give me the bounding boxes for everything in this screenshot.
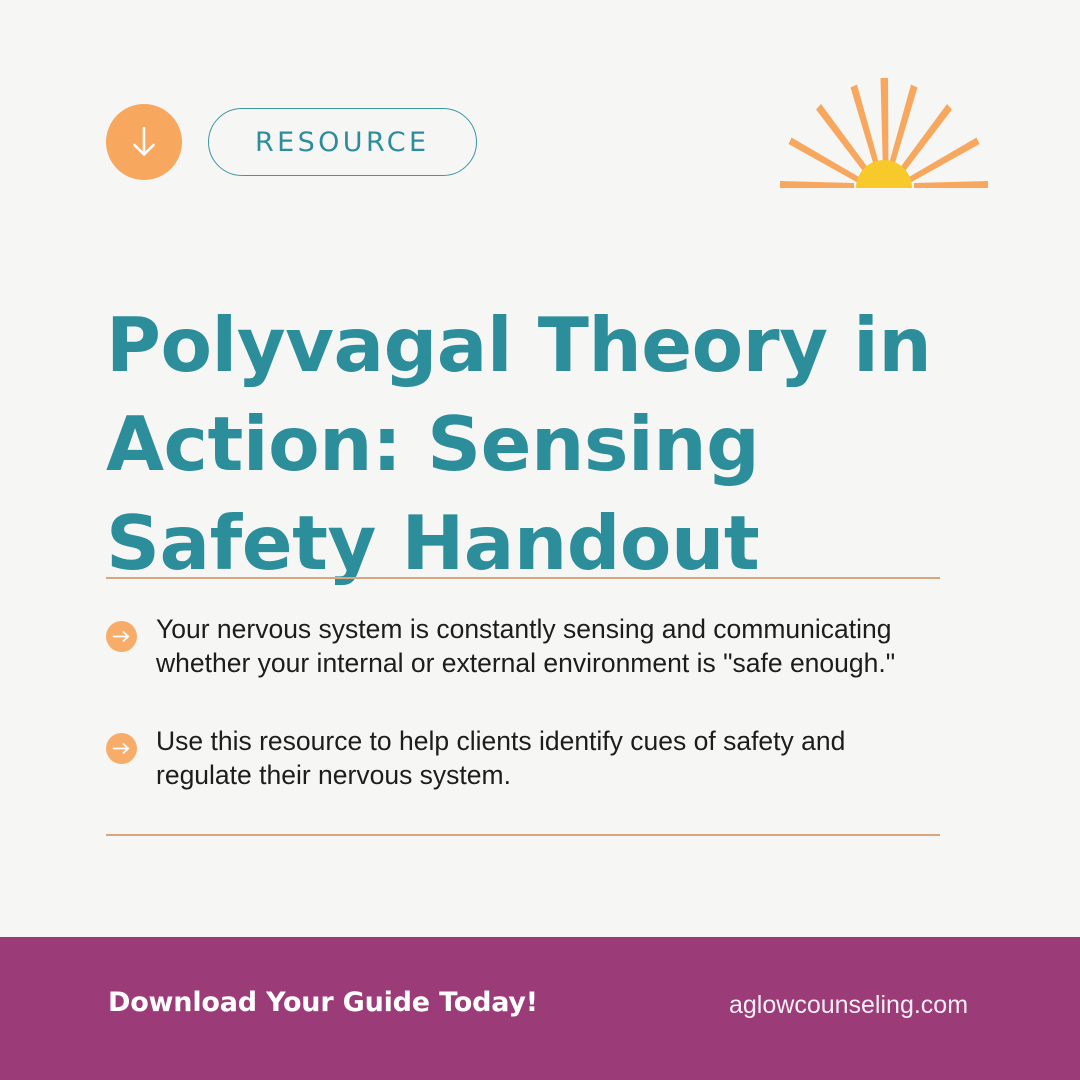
list-item-text: Use this resource to help clients identi… (156, 724, 946, 792)
list-item: Your nervous system is constantly sensin… (106, 612, 956, 680)
resource-badge-label: RESOURCE (255, 127, 430, 158)
footer-cta-text: Download Your Guide Today! (108, 987, 538, 1018)
download-button[interactable] (106, 104, 182, 180)
list-item-text: Your nervous system is constantly sensin… (156, 612, 946, 680)
resource-badge[interactable]: RESOURCE (208, 108, 477, 176)
poster-canvas: RESOURCE Polyvagal Theory in Action: Sen… (0, 0, 1080, 1080)
title-line-2: Action: Sensing (106, 395, 946, 494)
divider-top (106, 577, 940, 579)
arrow-right-icon (106, 621, 137, 652)
divider-bottom (106, 834, 940, 836)
bullet-list: Your nervous system is constantly sensin… (106, 612, 956, 792)
footer-website[interactable]: aglowcounseling.com (729, 991, 968, 1020)
arrow-right-icon (106, 733, 137, 764)
title-line-1: Polyvagal Theory in (106, 296, 946, 395)
page-title: Polyvagal Theory in Action: Sensing Safe… (106, 296, 946, 593)
download-arrow-icon (127, 123, 161, 161)
list-item: Use this resource to help clients identi… (106, 724, 956, 792)
header-row: RESOURCE (106, 104, 477, 180)
sunburst-logo-icon (778, 78, 990, 190)
footer-bar: Download Your Guide Today! aglowcounseli… (0, 937, 1080, 1080)
